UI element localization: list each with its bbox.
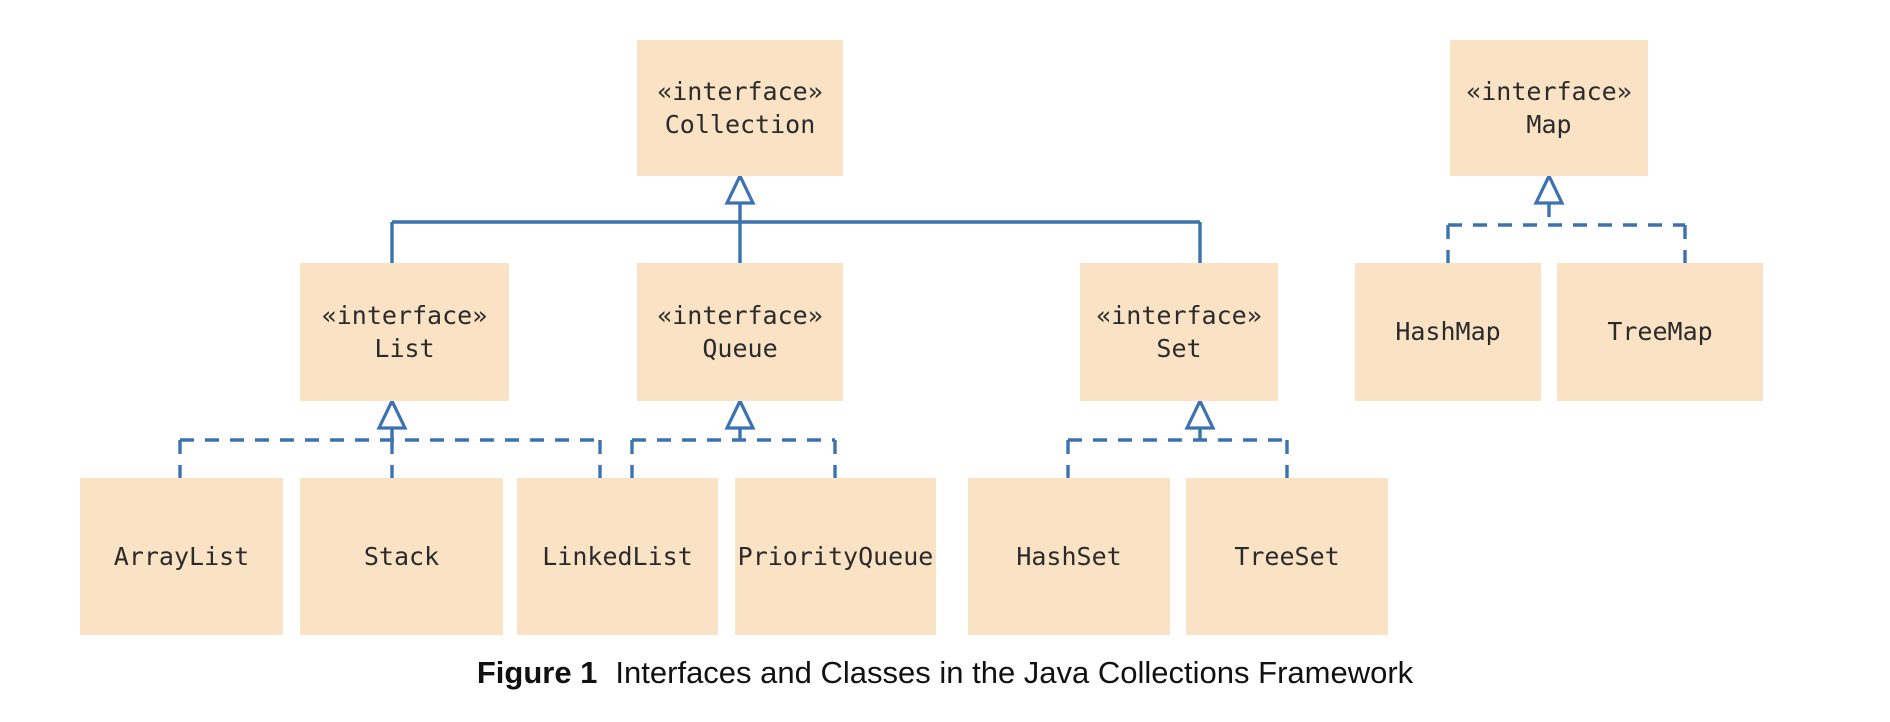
node-stack[interactable]: Stack — [300, 478, 503, 635]
stereotype-label: «interface» — [1096, 299, 1262, 333]
node-label: TreeSet — [1234, 540, 1339, 574]
arrowhead-list — [379, 401, 405, 428]
stereotype-label: «interface» — [657, 299, 823, 333]
node-map[interactable]: «interface» Map — [1450, 40, 1648, 176]
node-label: Stack — [364, 540, 439, 574]
node-queue[interactable]: «interface» Queue — [637, 263, 843, 401]
generalization-edges — [392, 175, 1200, 263]
node-label: LinkedList — [542, 540, 693, 574]
figure-number: Figure 1 — [477, 655, 598, 690]
figure-caption-text: Interfaces and Classes in the Java Colle… — [615, 655, 1413, 690]
stereotype-label: «interface» — [657, 75, 823, 109]
node-label: HashSet — [1016, 540, 1121, 574]
figure-caption: Figure 1Interfaces and Classes in the Ja… — [0, 655, 1890, 691]
node-label: Set — [1156, 332, 1201, 366]
arrowhead-set — [1187, 401, 1213, 428]
node-hashset[interactable]: HashSet — [968, 478, 1170, 635]
node-label: ArrayList — [114, 540, 249, 574]
node-label: Collection — [665, 108, 816, 142]
stereotype-label: «interface» — [1466, 75, 1632, 109]
arrowhead-queue — [727, 401, 753, 428]
arrowhead-collection — [727, 176, 753, 203]
node-treemap[interactable]: TreeMap — [1557, 263, 1763, 401]
node-label: PriorityQueue — [738, 540, 934, 574]
node-hashmap[interactable]: HashMap — [1355, 263, 1541, 401]
node-set[interactable]: «interface» Set — [1080, 263, 1278, 401]
node-label: HashMap — [1395, 315, 1500, 349]
node-treeset[interactable]: TreeSet — [1186, 478, 1388, 635]
node-label: TreeMap — [1607, 315, 1712, 349]
arrowhead-map — [1536, 176, 1562, 203]
node-arraylist[interactable]: ArrayList — [80, 478, 283, 635]
node-label: Map — [1526, 108, 1571, 142]
uml-class-diagram: «interface» Collection «interface» Map «… — [0, 0, 1890, 722]
node-label: Queue — [702, 332, 777, 366]
node-priorityqueue[interactable]: PriorityQueue — [735, 478, 936, 635]
node-collection[interactable]: «interface» Collection — [637, 40, 843, 176]
node-linkedlist[interactable]: LinkedList — [517, 478, 718, 635]
stereotype-label: «interface» — [322, 299, 488, 333]
node-label: List — [374, 332, 434, 366]
node-list[interactable]: «interface» List — [300, 263, 509, 401]
